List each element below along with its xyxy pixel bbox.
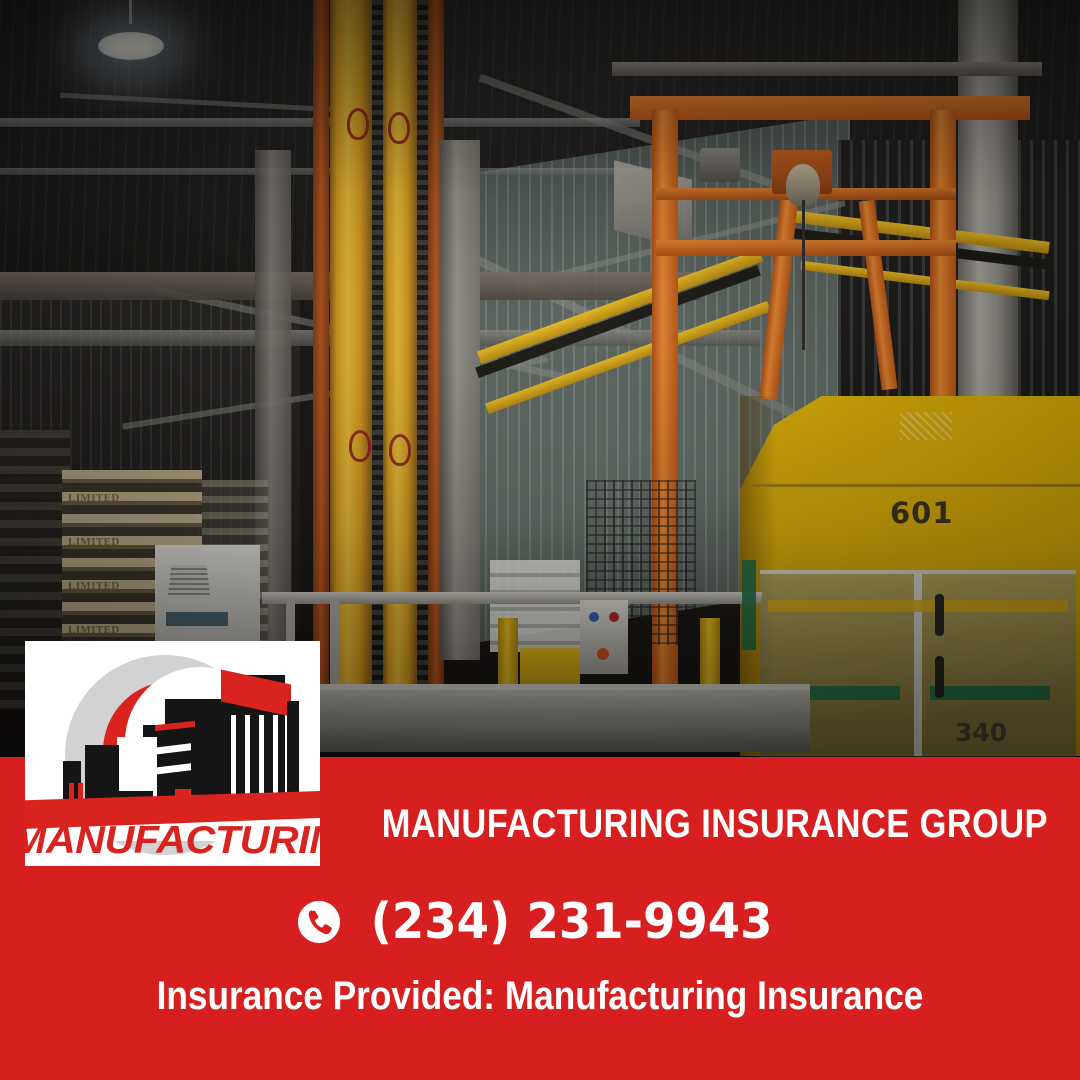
green-accent (742, 560, 756, 650)
hoist-motor (700, 148, 740, 182)
gantry-top-beam (612, 62, 1042, 76)
hoist-cable (802, 200, 805, 350)
logo-tagline: INSURANCE GROUP (25, 863, 320, 866)
phone-number[interactable]: (234) 231-9943 (371, 893, 773, 950)
gantry-top-beam (630, 96, 1030, 120)
machine-seam (752, 484, 1080, 487)
conveyor-post (330, 600, 339, 696)
control-button-blue[interactable] (589, 612, 599, 622)
concrete-column (440, 140, 480, 660)
machine-inner-beam (768, 600, 1068, 612)
social-media-card: LIMITED LIMITED LIMITED LIMITED LIMITED … (0, 0, 1080, 1080)
conveyor-deck (250, 690, 810, 752)
phone-row[interactable]: (234) 231-9943 (0, 893, 1080, 950)
emergency-stop-button[interactable] (597, 648, 609, 660)
control-panel[interactable] (580, 600, 628, 674)
mast-edge (313, 0, 329, 720)
company-headline: MANUFACTURING INSURANCE GROUP (382, 802, 1018, 847)
control-button-red[interactable] (609, 612, 619, 622)
mast-column (383, 0, 417, 690)
hook-marking-icon (389, 434, 411, 466)
insurance-provided-text: Insurance Provided: Manufacturing Insura… (65, 974, 1015, 1019)
machine-door-mullion (914, 570, 922, 756)
hook-marking-icon (347, 108, 369, 140)
logo-wordmark: MANUFACTURING (25, 819, 320, 863)
pallet-print: LIMITED (68, 492, 188, 504)
machine-number-lower: 340 (955, 718, 1007, 747)
machine-door-handle[interactable] (935, 656, 944, 698)
machine-number-upper: 601 (890, 496, 954, 530)
cabinet-vent-icon (168, 565, 210, 595)
gantry-crossbeam (656, 240, 956, 256)
machine-door-handle[interactable] (935, 594, 944, 636)
hook-marking-icon (349, 430, 371, 462)
hook-marking-icon (388, 112, 410, 144)
machine-scuff (900, 412, 952, 440)
machine-inner-green (930, 686, 1050, 700)
phone-icon (296, 899, 342, 945)
cabinet-label (166, 612, 228, 626)
ceiling-lamp-icon (98, 32, 164, 60)
company-logo: MANUFACTURING INSURANCE GROUP (25, 641, 320, 866)
